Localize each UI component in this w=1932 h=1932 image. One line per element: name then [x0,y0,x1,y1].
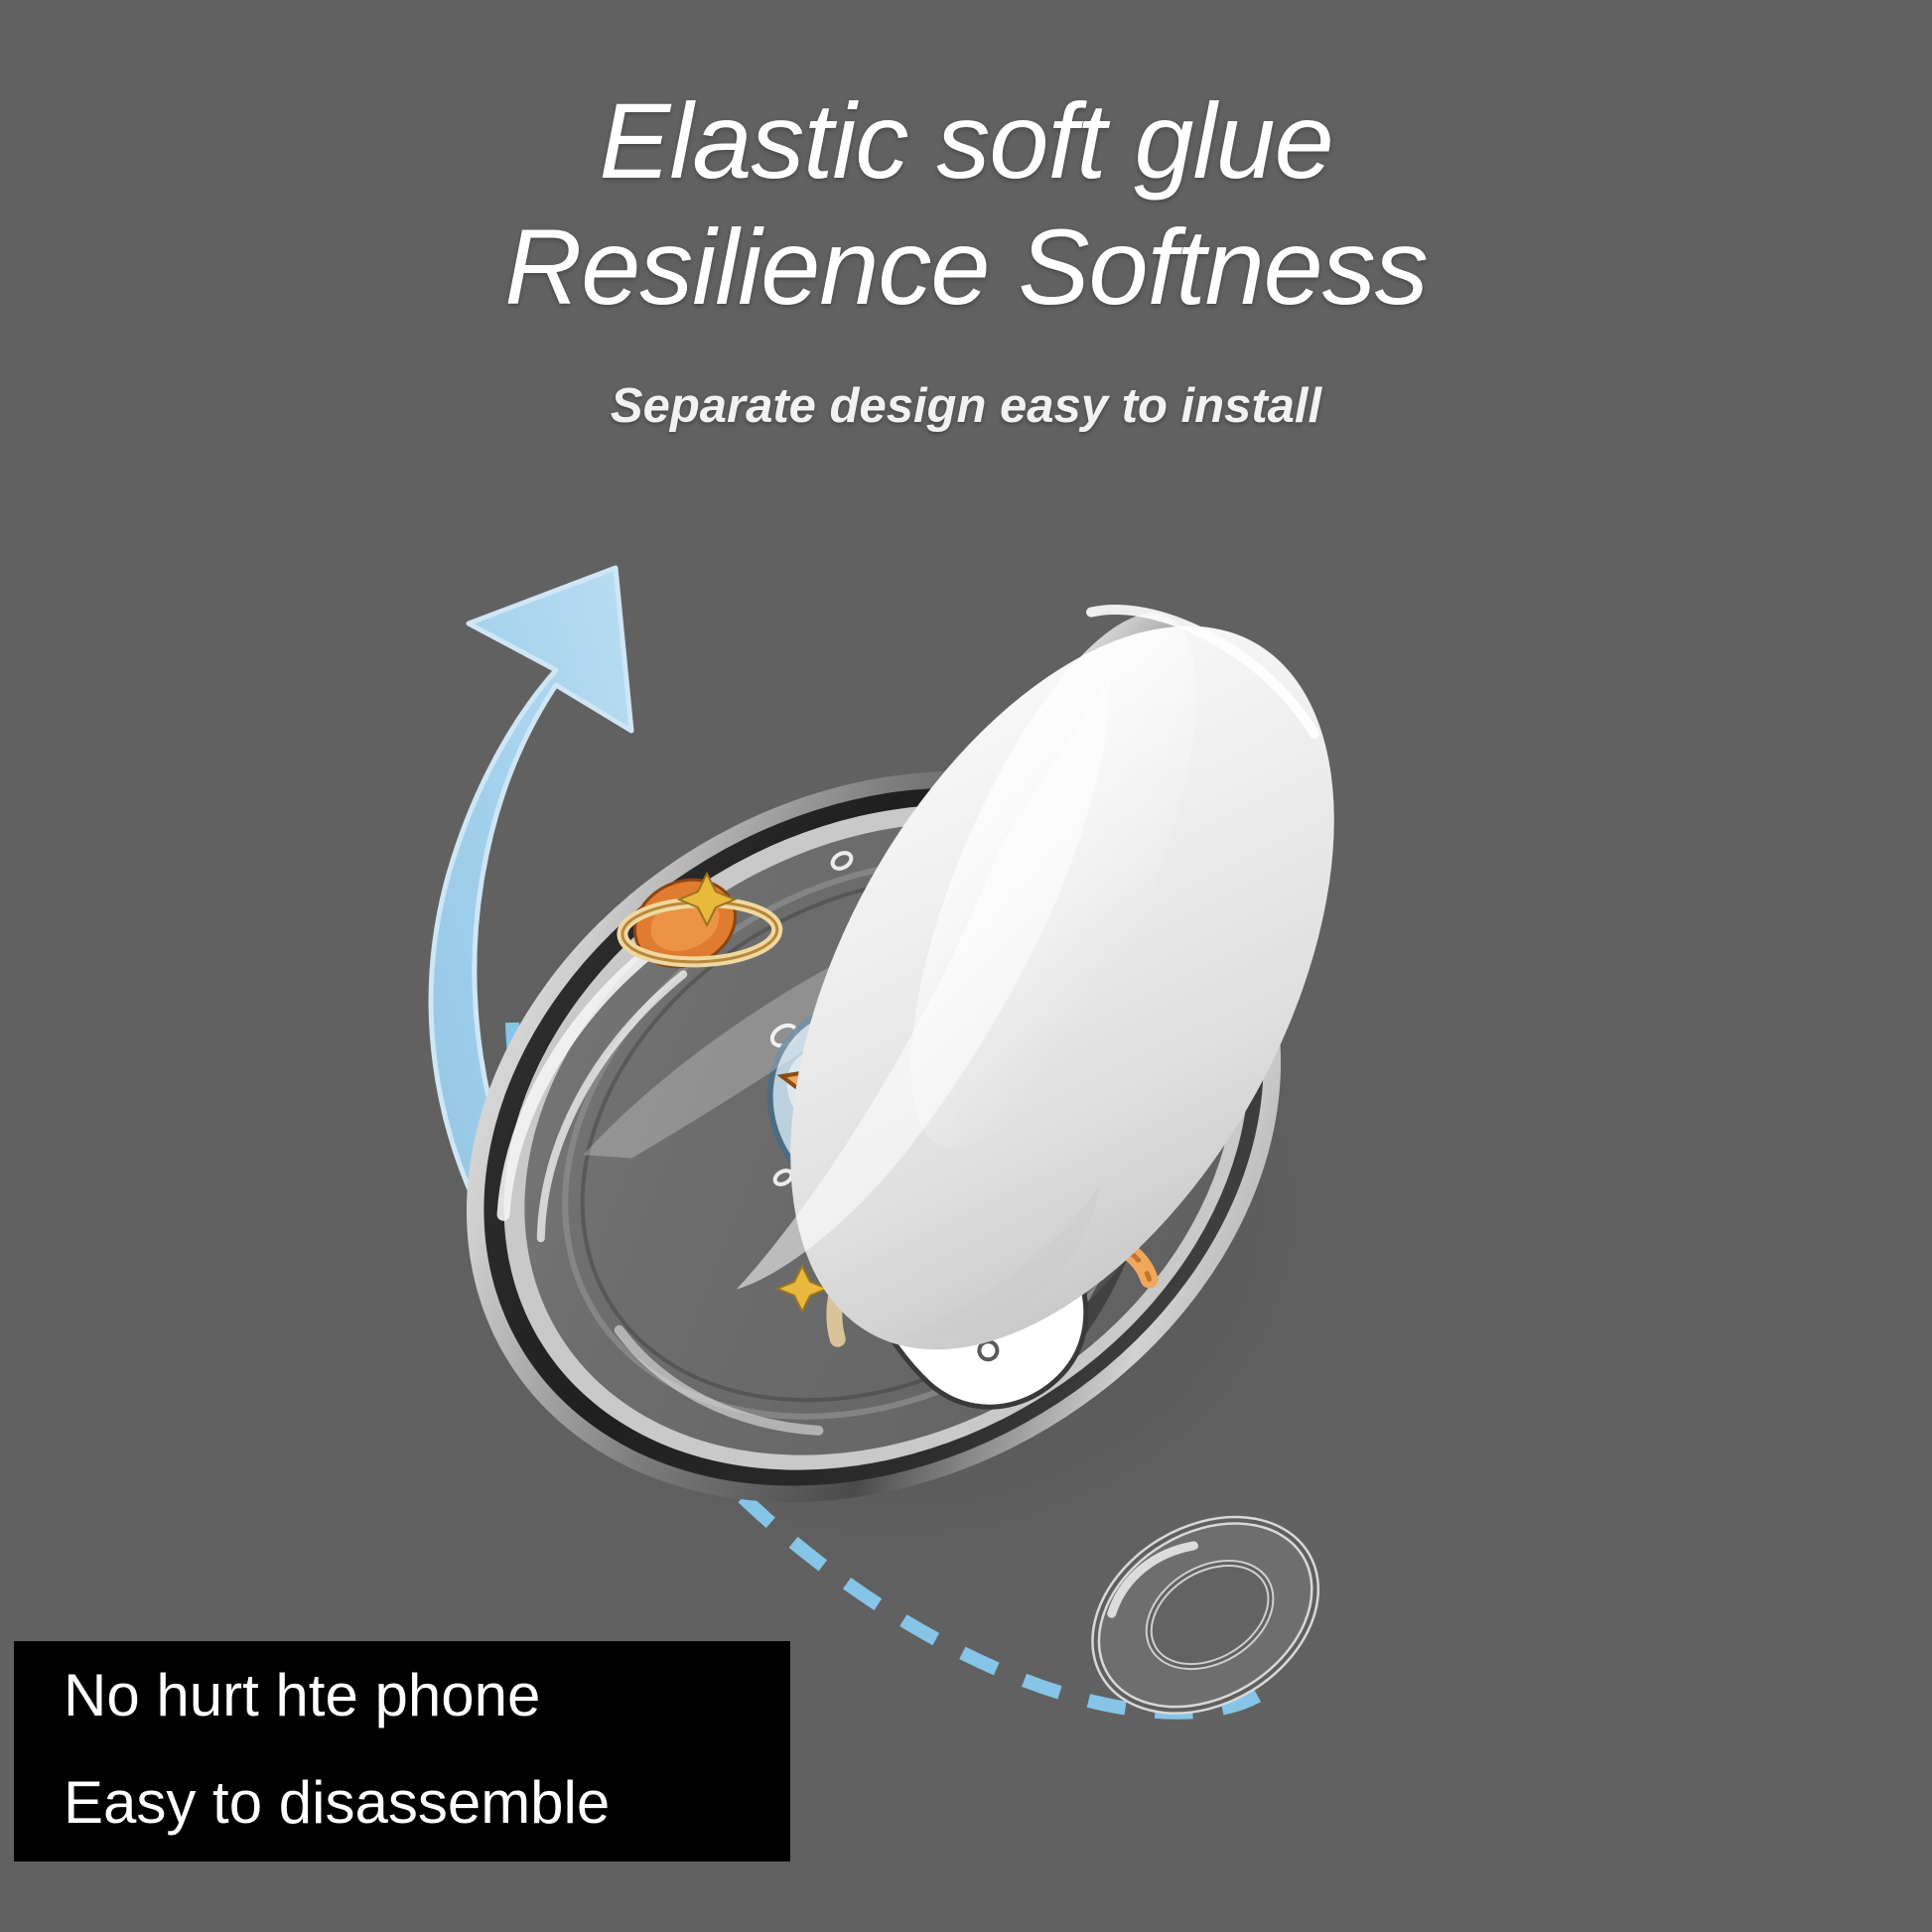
caption-box: No hurt hte phone Easy to disassemble [14,1641,790,1862]
caption-line-1: No hurt hte phone [64,1666,790,1725]
product-feature-image: Elastic soft glue Resilience Softness Se… [0,0,1932,1932]
caption-line-2: Easy to disassemble [64,1773,790,1833]
